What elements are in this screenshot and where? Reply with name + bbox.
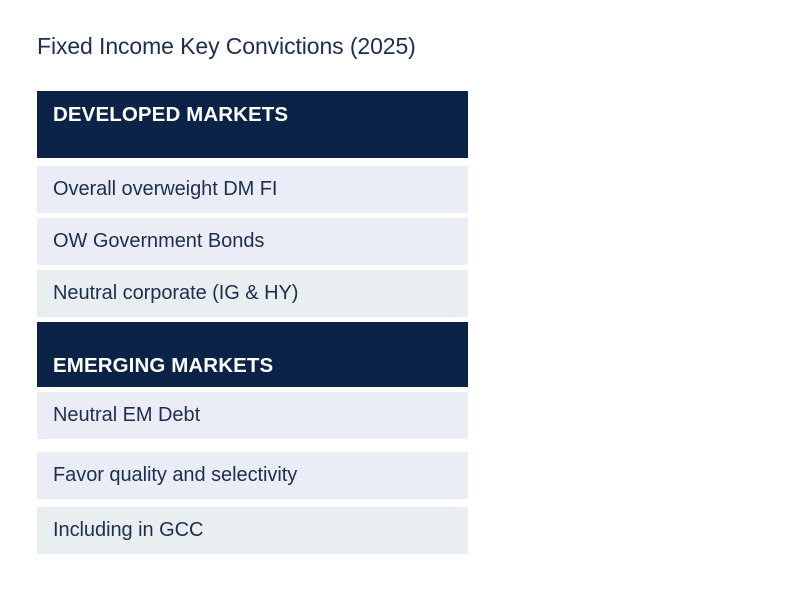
list-item-label: Favor quality and selectivity <box>53 464 297 487</box>
table-row: Neutral corporate (IG & HY) <box>37 270 468 317</box>
list-item-label: Overall overweight DM FI <box>53 178 277 201</box>
list-item-label: Including in GCC <box>53 519 203 542</box>
row-divider <box>37 439 468 452</box>
section-header-label: EMERGING MARKETS <box>53 354 273 378</box>
table-row: Favor quality and selectivity <box>37 452 468 499</box>
table-row: Overall overweight DM FI <box>37 166 468 213</box>
section-header-developed-markets: DEVELOPED MARKETS <box>37 91 468 158</box>
list-item-label: Neutral corporate (IG & HY) <box>53 282 298 305</box>
conviction-table: DEVELOPED MARKETS Overall overweight DM … <box>37 91 468 554</box>
section-header-label: DEVELOPED MARKETS <box>53 103 288 127</box>
section-header-emerging-markets: EMERGING MARKETS <box>37 322 468 387</box>
row-divider <box>37 158 468 166</box>
table-row: Including in GCC <box>37 507 468 554</box>
table-row: Neutral EM Debt <box>37 392 468 439</box>
slide-canvas: Fixed Income Key Convictions (2025) DEVE… <box>0 0 800 600</box>
row-divider <box>37 499 468 507</box>
list-item-label: OW Government Bonds <box>53 230 264 253</box>
table-row: OW Government Bonds <box>37 218 468 265</box>
list-item-label: Neutral EM Debt <box>53 404 200 427</box>
page-title: Fixed Income Key Convictions (2025) <box>37 31 737 61</box>
